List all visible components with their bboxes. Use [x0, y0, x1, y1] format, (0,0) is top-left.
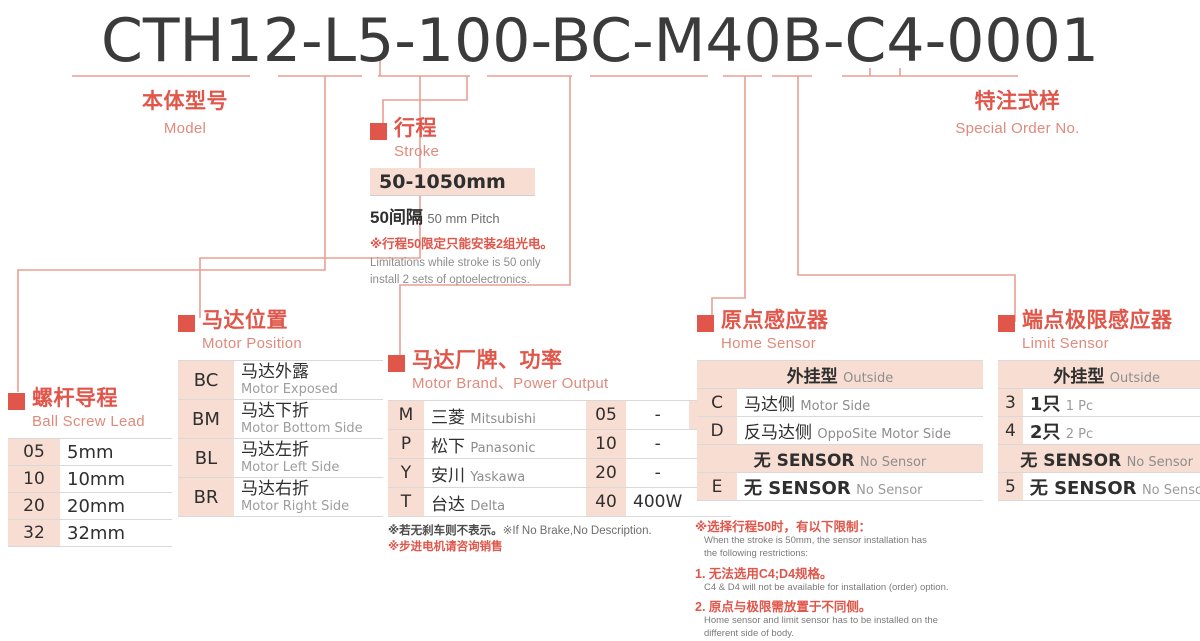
lead-code: 20 [8, 493, 60, 520]
home-sensor-nosensor-header: 无 SENSOR No Sensor [697, 445, 983, 473]
table-row: 32 32mm [8, 520, 172, 547]
power-code: 40 [586, 488, 626, 517]
table-row: M 三菱 Mitsubishi 05 - B [388, 401, 731, 430]
limit-sensor-code: 5 [998, 473, 1023, 501]
section-home-sensor: 原点感应器 Home Sensor 外挂型 Outside C 马达侧 Moto… [697, 310, 983, 501]
table-header-row: 无 SENSOR No Sensor [697, 445, 983, 473]
limit-sensor-nosensor-en: No Sensor [1127, 455, 1193, 470]
motor-brand-title-cn: 马达厂牌、功率 [412, 350, 608, 371]
table-row: BR 马达右折 Motor Right Side [178, 478, 383, 517]
motor-position-desc: 马达左折 Motor Left Side [234, 439, 383, 478]
limit-sensor-outside-en: Outside [1110, 371, 1160, 386]
table-row: Y 安川 Yaskawa 20 - [388, 459, 731, 488]
home-sensor-outside-en: Outside [843, 371, 893, 386]
home-sensor-desc-cn: 马达侧 [744, 395, 795, 415]
ball-screw-lead-table: 05 5mm 10 10mm 20 20mm 32 32mm [8, 438, 172, 547]
limit-sensor-marker-icon [998, 315, 1015, 332]
limit-sensor-desc-cn: 2只 [1030, 422, 1061, 443]
motor-position-desc: 马达右折 Motor Right Side [234, 478, 383, 517]
limit-sensor-desc: 无 SENSOR No Sensor [1023, 473, 1200, 501]
table-row: C 马达侧 Motor Side [697, 389, 983, 417]
home-sensor-marker-icon [697, 315, 714, 332]
motor-brand-table: M 三菱 Mitsubishi 05 - B P 松下 Panasonic 10… [388, 400, 731, 517]
motor-brand-note-en: ※If No Brake,No Description. [503, 525, 652, 537]
home-sensor-desc: 无 SENSOR No Sensor [737, 473, 983, 501]
stroke-title-cn: 行程 [394, 118, 439, 139]
stroke-pitch-en: 50 mm Pitch [427, 211, 499, 226]
motor-brand-marker-icon [388, 355, 405, 372]
motor-position-en: Motor Left Side [241, 461, 376, 476]
section-model: 本体型号 Model [60, 85, 310, 137]
home-sensor-restrictions: ※选择行程50时，有以下限制： When the stroke is 50mm,… [695, 516, 995, 641]
brand-name: 安川 Yaskawa [424, 459, 586, 488]
limit-sensor-title-cn: 端点极限感应器 [1022, 310, 1173, 331]
special-order-title-cn: 特注式样 [900, 85, 1135, 115]
restriction-title-cn: ※选择行程50时，有以下限制： [695, 516, 995, 535]
table-header-row: 无 SENSOR No Sensor [998, 445, 1200, 473]
limit-sensor-code: 3 [998, 389, 1023, 417]
ball-screw-lead-title-en: Ball Screw Lead [32, 414, 145, 429]
home-sensor-outside-header: 外挂型 Outside [697, 361, 983, 389]
brand-code: P [388, 430, 424, 459]
brand-name: 松下 Panasonic [424, 430, 586, 459]
lead-value: 20mm [60, 493, 172, 520]
home-sensor-desc-en: No Sensor [856, 483, 922, 498]
section-ball-screw-lead: 螺杆导程 Ball Screw Lead 05 5mm 10 10mm 20 2… [8, 388, 172, 547]
motor-position-cn: 马达右折 [241, 480, 376, 499]
limit-sensor-desc-en: No Sensor [1142, 483, 1200, 498]
home-sensor-desc: 反马达侧 OppoSite Motor Side [737, 417, 983, 445]
limit-sensor-nosensor-header: 无 SENSOR No Sensor [998, 445, 1200, 473]
section-motor-position: 马达位置 Motor Position BC 马达外露 Motor Expose… [178, 310, 383, 517]
home-sensor-nosensor-en: No Sensor [860, 455, 926, 470]
restriction-item2-en-2: different side of body. [704, 628, 995, 641]
motor-position-title-en: Motor Position [202, 336, 302, 351]
motor-brand-notes: ※若无刹车则不表示。※If No Brake,No Description. ※… [388, 524, 731, 555]
stroke-range-band: 50-1050mm [370, 168, 535, 196]
model-title-en: Model [60, 120, 310, 137]
motor-position-code: BL [178, 439, 234, 478]
brand-name: 三菱 Mitsubishi [424, 401, 586, 430]
lead-code: 32 [8, 520, 60, 547]
power-value: - [626, 401, 689, 430]
power-code: 10 [586, 430, 626, 459]
table-row: BC 马达外露 Motor Exposed [178, 361, 383, 400]
restriction-title-en-2: the following restrictions: [704, 548, 995, 561]
stroke-limit-en-2: install 2 sets of optoelectronics. [370, 272, 553, 289]
home-sensor-nosensor-cn: 无 SENSOR [754, 451, 855, 471]
stroke-title-en: Stroke [394, 144, 439, 159]
power-value: - [626, 459, 689, 488]
brand-name-cn: 三菱 [431, 408, 465, 428]
motor-position-code: BM [178, 400, 234, 439]
motor-brand-note-cn: ※若无刹车则不表示。 [388, 525, 503, 537]
lead-code: 05 [8, 439, 60, 466]
stroke-range-value: 50-1050mm [379, 171, 506, 193]
brand-name-en: Delta [470, 499, 505, 514]
ball-screw-lead-title-cn: 螺杆导程 [32, 388, 145, 409]
lead-value: 10mm [60, 466, 172, 493]
table-row: 5 无 SENSOR No Sensor [998, 473, 1200, 501]
lead-value: 5mm [60, 439, 172, 466]
motor-position-en: Motor Bottom Side [241, 422, 376, 437]
home-sensor-code: D [697, 417, 737, 445]
limit-sensor-title-en: Limit Sensor [1022, 336, 1173, 351]
limit-sensor-desc: 1只 1 Pc [1023, 389, 1200, 417]
table-row: BL 马达左折 Motor Left Side [178, 439, 383, 478]
motor-position-desc: 马达外露 Motor Exposed [234, 361, 383, 400]
limit-sensor-outside-header: 外挂型 Outside [998, 361, 1200, 389]
power-code: 20 [586, 459, 626, 488]
restriction-item2-en-1: Home sensor and limit sensor has to be i… [704, 615, 995, 628]
section-stroke: 行程 Stroke 50-1050mm 50间隔 50 mm Pitch ※行程… [370, 118, 553, 288]
home-sensor-desc-cn: 反马达侧 [744, 423, 812, 443]
home-sensor-code: E [697, 473, 737, 501]
limit-sensor-desc-cn: 无 SENSOR [1030, 478, 1137, 499]
motor-brand-title-en: Motor Brand、Power Output [412, 376, 608, 391]
table-row: P 松下 Panasonic 10 - [388, 430, 731, 459]
part-number: CTH12-L5-100-BC-M40B-C4-0001 [0, 6, 1200, 76]
stroke-pitch-cn: 50间隔 [370, 208, 423, 227]
power-code: 05 [586, 401, 626, 430]
home-sensor-desc: 马达侧 Motor Side [737, 389, 983, 417]
motor-position-en: Motor Exposed [241, 383, 376, 398]
motor-position-table: BC 马达外露 Motor Exposed BM 马达下折 Motor Bott… [178, 360, 383, 517]
lead-value: 32mm [60, 520, 172, 547]
home-sensor-desc-cn: 无 SENSOR [744, 478, 851, 499]
brand-name-en: Yaskawa [470, 470, 525, 485]
motor-position-desc: 马达下折 Motor Bottom Side [234, 400, 383, 439]
stroke-limit-cn: ※行程50限定只能安装2组光电。 [370, 233, 553, 252]
home-sensor-table: 外挂型 Outside C 马达侧 Motor Side D 反马达侧 Oppo… [697, 360, 983, 501]
restriction-title-en-1: When the stroke is 50mm, the sensor inst… [704, 535, 995, 548]
limit-sensor-outside-cn: 外挂型 [1053, 367, 1104, 387]
motor-position-en: Motor Right Side [241, 500, 376, 515]
table-row: 05 5mm [8, 439, 172, 466]
motor-position-cn: 马达下折 [241, 402, 376, 421]
home-sensor-code: C [697, 389, 737, 417]
power-value: 400W [626, 488, 689, 517]
home-sensor-desc-en: Motor Side [800, 399, 870, 414]
motor-position-cn: 马达外露 [241, 363, 376, 382]
motor-position-code: BR [178, 478, 234, 517]
brand-name-cn: 安川 [431, 466, 465, 486]
limit-sensor-nosensor-cn: 无 SENSOR [1020, 451, 1121, 471]
lead-code: 10 [8, 466, 60, 493]
section-special-order: 特注式样 Special Order No. [900, 85, 1135, 137]
motor-position-title-cn: 马达位置 [202, 310, 302, 331]
brand-code: M [388, 401, 424, 430]
table-header-row: 外挂型 Outside [697, 361, 983, 389]
home-sensor-desc-en: OppoSite Motor Side [817, 427, 951, 442]
part-number-text: CTH12-L5-100-BC-M40B-C4-0001 [101, 6, 1099, 76]
brand-code: Y [388, 459, 424, 488]
restriction-item2-cn: 2. 原点与极限需放置于不同侧。 [695, 596, 995, 615]
ball-screw-lead-marker-icon [8, 393, 25, 410]
table-row: 10 10mm [8, 466, 172, 493]
limit-sensor-desc-en: 2 Pc [1066, 427, 1093, 442]
model-title-cn: 本体型号 [60, 85, 310, 115]
special-order-title-en: Special Order No. [900, 120, 1135, 137]
limit-sensor-desc-en: 1 Pc [1066, 399, 1093, 414]
motor-brand-note-red: ※步进电机请咨询销售 [388, 540, 731, 556]
table-row: 3 1只 1 Pc [998, 389, 1200, 417]
model-code-diagram: CTH12-L5-100-BC-M40B-C4-0001 本体型号 Model … [0, 0, 1200, 605]
section-motor-brand: 马达厂牌、功率 Motor Brand、Power Output M 三菱 Mi… [388, 350, 731, 555]
limit-sensor-desc-cn: 1只 [1030, 394, 1061, 415]
home-sensor-title-cn: 原点感应器 [721, 310, 829, 331]
table-row: 20 20mm [8, 493, 172, 520]
limit-sensor-table: 外挂型 Outside 3 1只 1 Pc 4 2只 2 Pc [998, 360, 1200, 501]
restriction-item1-cn: 1. 无法选用C4;D4规格。 [695, 563, 995, 582]
table-row: T 台达 Delta 40 400W [388, 488, 731, 517]
table-row: E 无 SENSOR No Sensor [697, 473, 983, 501]
stroke-marker-icon [370, 123, 387, 140]
brand-name-en: Panasonic [470, 441, 535, 456]
motor-position-code: BC [178, 361, 234, 400]
power-value: - [626, 430, 689, 459]
stroke-limit-en-1: Limitations while stroke is 50 only [370, 255, 553, 272]
brand-name-cn: 松下 [431, 437, 465, 457]
brand-name-en: Mitsubishi [470, 412, 535, 427]
motor-position-cn: 马达左折 [241, 441, 376, 460]
limit-sensor-code: 4 [998, 417, 1023, 445]
limit-sensor-desc: 2只 2 Pc [1023, 417, 1200, 445]
table-row: D 反马达侧 OppoSite Motor Side [697, 417, 983, 445]
brand-name-cn: 台达 [431, 495, 465, 515]
stroke-pitch: 50间隔 50 mm Pitch [370, 203, 553, 228]
home-sensor-title-en: Home Sensor [721, 336, 829, 351]
brand-name: 台达 Delta [424, 488, 586, 517]
home-sensor-outside-cn: 外挂型 [787, 367, 838, 387]
table-row: BM 马达下折 Motor Bottom Side [178, 400, 383, 439]
brand-code: T [388, 488, 424, 517]
motor-position-marker-icon [178, 315, 195, 332]
section-limit-sensor: 端点极限感应器 Limit Sensor 外挂型 Outside 3 1只 1 … [998, 310, 1200, 501]
restriction-item1-en: C4 & D4 will not be available for instal… [704, 582, 995, 595]
table-row: 4 2只 2 Pc [998, 417, 1200, 445]
table-header-row: 外挂型 Outside [998, 361, 1200, 389]
